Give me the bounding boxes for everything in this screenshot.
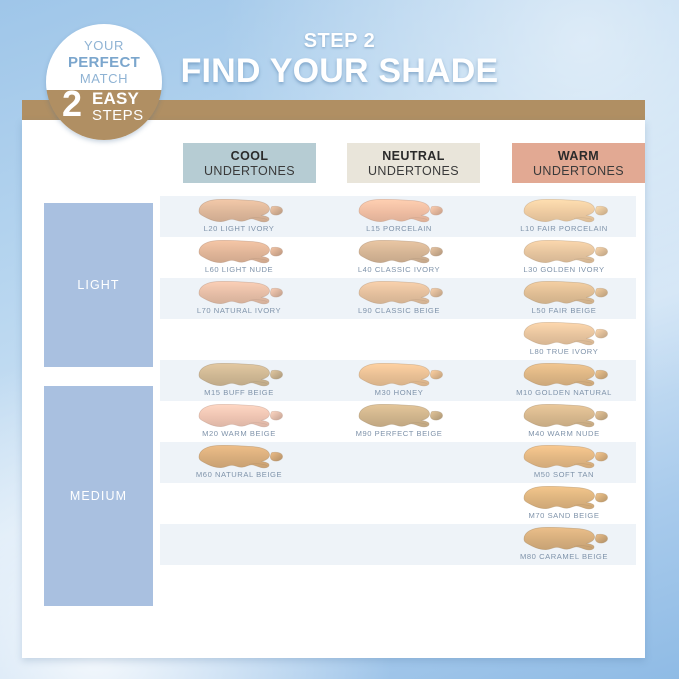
shade-name-label: M50 SOFT TAN (485, 470, 643, 479)
shade-cell-neutral[interactable]: M30 HONEY (320, 360, 478, 401)
column-header-neutral-subtitle: UNDERTONES (368, 164, 459, 178)
shade-swatch-icon (516, 402, 612, 429)
shade-swatch-icon (351, 361, 447, 388)
shade-name-label: L10 FAIR PORCELAIN (485, 224, 643, 233)
shade-swatch-icon (516, 238, 612, 265)
shade-name-label: L15 PORCELAIN (320, 224, 478, 233)
column-header-warm-subtitle: UNDERTONES (533, 164, 624, 178)
shade-name-label: M80 CARAMEL BEIGE (485, 552, 643, 561)
shade-cell-cool[interactable]: L20 LIGHT IVORY (160, 196, 318, 237)
table-row: M15 BUFF BEIGEM30 HONEYM10 GOLDEN NATURA… (160, 360, 636, 401)
shade-swatch-icon (191, 402, 287, 429)
table-row: M70 SAND BEIGE (160, 483, 636, 524)
shade-swatch-icon (516, 484, 612, 511)
shade-cell-cool (160, 483, 318, 524)
shade-swatch-icon (351, 238, 447, 265)
category-label-light: LIGHT (77, 278, 119, 292)
seal-line-your: YOUR (46, 38, 162, 53)
shade-cell-cool[interactable]: L70 NATURAL IVORY (160, 278, 318, 319)
shade-swatch-icon (191, 279, 287, 306)
shade-name-label: M90 PERFECT BEIGE (320, 429, 478, 438)
column-header-warm-title: WARM (558, 149, 599, 163)
shade-cell-warm[interactable]: M50 SOFT TAN (485, 442, 643, 483)
shade-cell-neutral[interactable]: L90 CLASSIC BEIGE (320, 278, 478, 319)
shade-cell-cool[interactable]: L60 LIGHT NUDE (160, 237, 318, 278)
shade-cell-warm[interactable]: L80 TRUE IVORY (485, 319, 643, 360)
table-row: L20 LIGHT IVORYL15 PORCELAINL10 FAIR POR… (160, 196, 636, 237)
shade-swatch-icon (191, 361, 287, 388)
table-row: L80 TRUE IVORY (160, 319, 636, 360)
shade-name-label: L90 CLASSIC BEIGE (320, 306, 478, 315)
shade-cell-warm[interactable]: L30 GOLDEN IVORY (485, 237, 643, 278)
shade-name-label: L50 FAIR BEIGE (485, 306, 643, 315)
shade-swatch-icon (351, 197, 447, 224)
column-header-cool-title: COOL (231, 149, 269, 163)
shade-cell-cool (160, 319, 318, 360)
column-header-neutral: NEUTRAL UNDERTONES (347, 143, 480, 183)
shade-cell-warm[interactable]: M80 CARAMEL BEIGE (485, 524, 643, 565)
category-label-medium: MEDIUM (70, 489, 127, 503)
shade-cell-neutral (320, 524, 478, 565)
shade-swatch-icon (516, 525, 612, 552)
seal-line-perfect: PERFECT (46, 54, 162, 71)
shade-name-label: M20 WARM BEIGE (160, 429, 318, 438)
shade-cell-cool[interactable]: M20 WARM BEIGE (160, 401, 318, 442)
shade-finder-page: STEP 2 FIND YOUR SHADE YOUR PERFECT MATC… (0, 0, 679, 679)
shade-swatch-icon (516, 320, 612, 347)
table-row: M20 WARM BEIGEM90 PERFECT BEIGEM40 WARM … (160, 401, 636, 442)
table-row: M80 CARAMEL BEIGE (160, 524, 636, 565)
table-row: M60 NATURAL BEIGEM50 SOFT TAN (160, 442, 636, 483)
column-header-neutral-title: NEUTRAL (382, 149, 445, 163)
shade-cell-warm[interactable]: L50 FAIR BEIGE (485, 278, 643, 319)
shade-name-label: M60 NATURAL BEIGE (160, 470, 318, 479)
shade-cell-neutral[interactable]: L15 PORCELAIN (320, 196, 478, 237)
column-header-cool: COOL UNDERTONES (183, 143, 316, 183)
seal-line-easy: EASY (92, 90, 139, 107)
shade-cell-neutral (320, 483, 478, 524)
shade-swatch-icon (191, 238, 287, 265)
shade-name-label: L70 NATURAL IVORY (160, 306, 318, 315)
shade-name-label: M15 BUFF BEIGE (160, 388, 318, 397)
shade-name-label: M30 HONEY (320, 388, 478, 397)
table-row: L70 NATURAL IVORYL90 CLASSIC BEIGEL50 FA… (160, 278, 636, 319)
shade-cell-warm[interactable]: L10 FAIR PORCELAIN (485, 196, 643, 237)
shade-cell-neutral (320, 442, 478, 483)
shade-name-label: L60 LIGHT NUDE (160, 265, 318, 274)
shade-swatch-icon (351, 402, 447, 429)
shade-swatch-icon (516, 197, 612, 224)
perfect-match-seal-badge: YOUR PERFECT MATCH 2 EASY STEPS (46, 24, 162, 140)
seal-line-steps: STEPS (92, 108, 144, 123)
table-row: L60 LIGHT NUDEL40 CLASSIC IVORYL30 GOLDE… (160, 237, 636, 278)
shade-cell-warm[interactable]: M40 WARM NUDE (485, 401, 643, 442)
shade-cell-cool (160, 524, 318, 565)
shade-name-label: M10 GOLDEN NATURAL (485, 388, 643, 397)
shade-cell-cool[interactable]: M60 NATURAL BEIGE (160, 442, 318, 483)
shade-name-label: L40 CLASSIC IVORY (320, 265, 478, 274)
shade-cell-warm[interactable]: M10 GOLDEN NATURAL (485, 360, 643, 401)
column-header-warm: WARM UNDERTONES (512, 143, 645, 183)
shade-cell-neutral[interactable]: L40 CLASSIC IVORY (320, 237, 478, 278)
shade-name-label: M70 SAND BEIGE (485, 511, 643, 520)
shade-swatch-icon (516, 443, 612, 470)
shade-name-label: L30 GOLDEN IVORY (485, 265, 643, 274)
shade-swatch-icon (191, 443, 287, 470)
shade-name-label: M40 WARM NUDE (485, 429, 643, 438)
category-block-medium: MEDIUM (44, 386, 153, 606)
shade-name-label: L80 TRUE IVORY (485, 347, 643, 356)
shade-cell-neutral[interactable]: M90 PERFECT BEIGE (320, 401, 478, 442)
seal-step-count: 2 (62, 86, 82, 122)
shade-name-label: L20 LIGHT IVORY (160, 224, 318, 233)
shade-cell-warm[interactable]: M70 SAND BEIGE (485, 483, 643, 524)
shade-cell-cool[interactable]: M15 BUFF BEIGE (160, 360, 318, 401)
shade-swatch-icon (516, 279, 612, 306)
shade-grid: L20 LIGHT IVORYL15 PORCELAINL10 FAIR POR… (160, 196, 636, 565)
shade-cell-neutral (320, 319, 478, 360)
shade-swatch-icon (191, 197, 287, 224)
shade-swatch-icon (516, 361, 612, 388)
shade-swatch-icon (351, 279, 447, 306)
column-header-cool-subtitle: UNDERTONES (204, 164, 295, 178)
category-block-light: LIGHT (44, 203, 153, 367)
